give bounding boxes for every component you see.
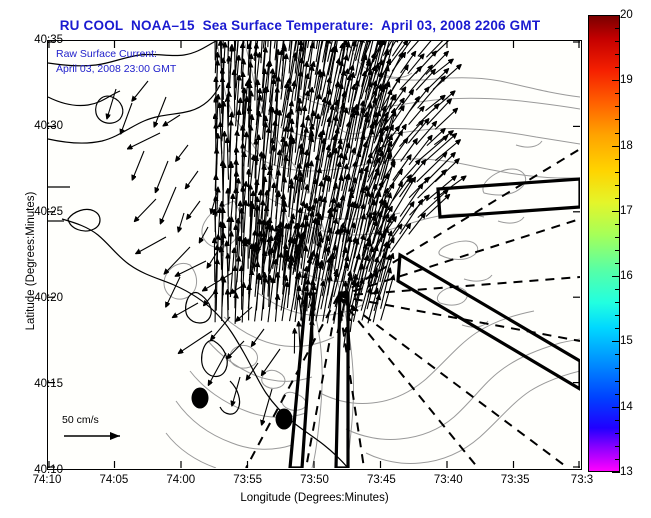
- current-vector: [433, 65, 461, 90]
- colorbar-minor-tick: [615, 302, 620, 303]
- colorbar-minor-tick: [615, 263, 620, 264]
- colorbar-minor-tick: [615, 315, 620, 316]
- colorbar-tick-label: 13: [620, 466, 633, 478]
- current-vector: [232, 377, 240, 406]
- current-vector: [287, 53, 295, 100]
- current-vector: [135, 199, 156, 221]
- current-vector: [211, 317, 230, 340]
- current-vector: [136, 237, 166, 254]
- current-vector: [248, 45, 249, 76]
- sst-map-figure: RU COOL NOAA–15 Sea Surface Temperature:…: [0, 0, 651, 518]
- current-vector: [230, 248, 234, 297]
- x-tick-label: 73:55: [233, 474, 262, 486]
- y-tick-label: 40:35: [3, 34, 63, 46]
- vector-scale-legend: 50 cm/s: [62, 414, 132, 444]
- current-vector: [401, 52, 416, 73]
- radar-beam-dashed-rays: [246, 149, 580, 468]
- colorbar-minor-tick: [615, 93, 620, 94]
- colorbar-minor-tick: [615, 381, 620, 382]
- bathymetry-contours: [164, 41, 580, 468]
- x-tick-label: 73:50: [300, 474, 329, 486]
- colorbar-minor-tick: [615, 67, 620, 68]
- current-vector: [290, 274, 299, 321]
- colorbar-minor-tick: [615, 237, 620, 238]
- current-vector: [132, 81, 148, 101]
- current-vector: [229, 218, 230, 245]
- y-tick-label: 40:15: [3, 378, 63, 390]
- current-vector: [243, 187, 244, 233]
- current-vector: [186, 171, 198, 188]
- surface-current-vectors: [107, 41, 466, 425]
- current-vector: [435, 159, 459, 182]
- current-vector: [346, 282, 347, 306]
- colorbar-minor-tick: [615, 394, 620, 395]
- map-canvas: [48, 41, 580, 468]
- colorbar-minor-tick: [615, 185, 620, 186]
- colorbar-tick-label: 16: [620, 270, 633, 282]
- x-axis-title: Longitude (Degrees:Minutes): [47, 492, 582, 504]
- current-vector: [417, 153, 447, 182]
- x-tick-label: 73:3: [571, 474, 593, 486]
- current-vector: [227, 290, 228, 320]
- colorbar-minor-tick: [615, 420, 620, 421]
- x-tick-label: 73:35: [501, 474, 530, 486]
- current-vector: [384, 170, 403, 197]
- x-tick-label: 73:40: [434, 474, 463, 486]
- current-vector: [164, 247, 190, 274]
- y-axis-title: Latitude (Degrees:Minutes): [25, 151, 37, 371]
- current-vector: [178, 213, 184, 232]
- colorbar-tick-mark: [612, 15, 620, 16]
- current-vector: [222, 276, 223, 321]
- current-vector: [270, 183, 274, 232]
- colorbar-tick-label: 14: [620, 401, 633, 413]
- colorbar-tick-label: 18: [620, 140, 633, 152]
- colorbar-tick-mark: [612, 341, 620, 342]
- current-vector: [252, 329, 264, 346]
- current-vector: [163, 115, 180, 126]
- colorbar-tick-label: 17: [620, 205, 633, 217]
- current-vector: [176, 145, 188, 161]
- figure-title: RU COOL NOAA–15 Sea Surface Temperature:…: [0, 18, 600, 33]
- current-vector: [408, 54, 424, 73]
- current-vector: [321, 41, 328, 90]
- colorbar-minor-tick: [615, 289, 620, 290]
- colorbar-minor-tick: [615, 119, 620, 120]
- colorbar-tick-mark: [612, 80, 620, 81]
- current-vector: [295, 41, 304, 51]
- current-vector: [236, 307, 252, 321]
- current-vector: [399, 121, 423, 147]
- x-tick-label: 74:05: [99, 474, 128, 486]
- x-tick-label: 74:00: [166, 474, 195, 486]
- colorbar-minor-tick: [615, 250, 620, 251]
- colorbar-minor-tick: [615, 198, 620, 199]
- current-vector: [128, 133, 160, 149]
- colorbar-minor-tick: [615, 328, 620, 329]
- colorbar-minor-tick: [615, 133, 620, 134]
- current-vector: [200, 227, 209, 243]
- colorbar-minor-tick: [615, 433, 620, 434]
- colorbar-tick-label: 19: [620, 74, 633, 86]
- colorbar-minor-tick: [615, 159, 620, 160]
- current-vector: [434, 59, 453, 74]
- station-marker: [192, 388, 209, 409]
- current-vector: [230, 121, 231, 167]
- current-vector: [250, 63, 251, 103]
- colorbar-tick-mark: [612, 146, 620, 147]
- current-vector: [400, 184, 422, 217]
- station-markers: [192, 388, 293, 430]
- station-marker: [276, 409, 293, 430]
- colorbar-tick-mark: [612, 211, 620, 212]
- current-vector: [409, 178, 429, 198]
- colorbar-tick-label: 20: [620, 9, 633, 21]
- colorbar-tick-label: 15: [620, 335, 633, 347]
- colorbar-tick-mark: [612, 472, 620, 473]
- current-vector: [166, 277, 180, 307]
- y-tick-label: 40:30: [3, 120, 63, 132]
- colorbar-minor-tick: [615, 368, 620, 369]
- colorbar-minor-tick: [615, 172, 620, 173]
- current-vector: [223, 41, 224, 49]
- colorbar-minor-tick: [615, 41, 620, 42]
- current-vector: [156, 161, 169, 192]
- current-vector: [227, 138, 228, 179]
- current-vector: [132, 151, 144, 180]
- current-vector: [187, 201, 200, 219]
- colorbar-tick-mark: [612, 276, 620, 277]
- x-tick-label: 73:45: [367, 474, 396, 486]
- current-vector: [154, 97, 166, 127]
- temperature-colorbar[interactable]: [588, 15, 620, 472]
- colorbar-minor-tick: [615, 106, 620, 107]
- colorbar-minor-tick: [615, 354, 620, 355]
- current-vector: [435, 109, 457, 130]
- x-tick-label: 74:10: [33, 474, 62, 486]
- current-vector: [234, 71, 235, 116]
- current-vector: [426, 41, 457, 57]
- current-vector: [235, 41, 237, 51]
- colorbar-minor-tick: [615, 54, 620, 55]
- current-vector: [107, 89, 116, 119]
- colorbar-minor-tick: [615, 459, 620, 460]
- current-vector: [434, 131, 453, 145]
- map-plot-area[interactable]: Raw Surface Current: April 03, 2008 23:0…: [47, 40, 582, 470]
- vector-scale-label: 50 cm/s: [62, 414, 132, 426]
- current-vector: [392, 139, 408, 161]
- current-vector: [268, 41, 270, 47]
- current-vector: [335, 229, 341, 271]
- current-vector: [433, 41, 456, 56]
- colorbar-minor-tick: [615, 446, 620, 447]
- arrow-right-icon: [62, 426, 132, 444]
- colorbar-tick-mark: [612, 407, 620, 408]
- colorbar-minor-tick: [615, 28, 620, 29]
- colorbar-minor-tick: [615, 224, 620, 225]
- current-vector: [161, 187, 177, 224]
- current-vector: [209, 353, 227, 385]
- current-vector: [230, 45, 232, 88]
